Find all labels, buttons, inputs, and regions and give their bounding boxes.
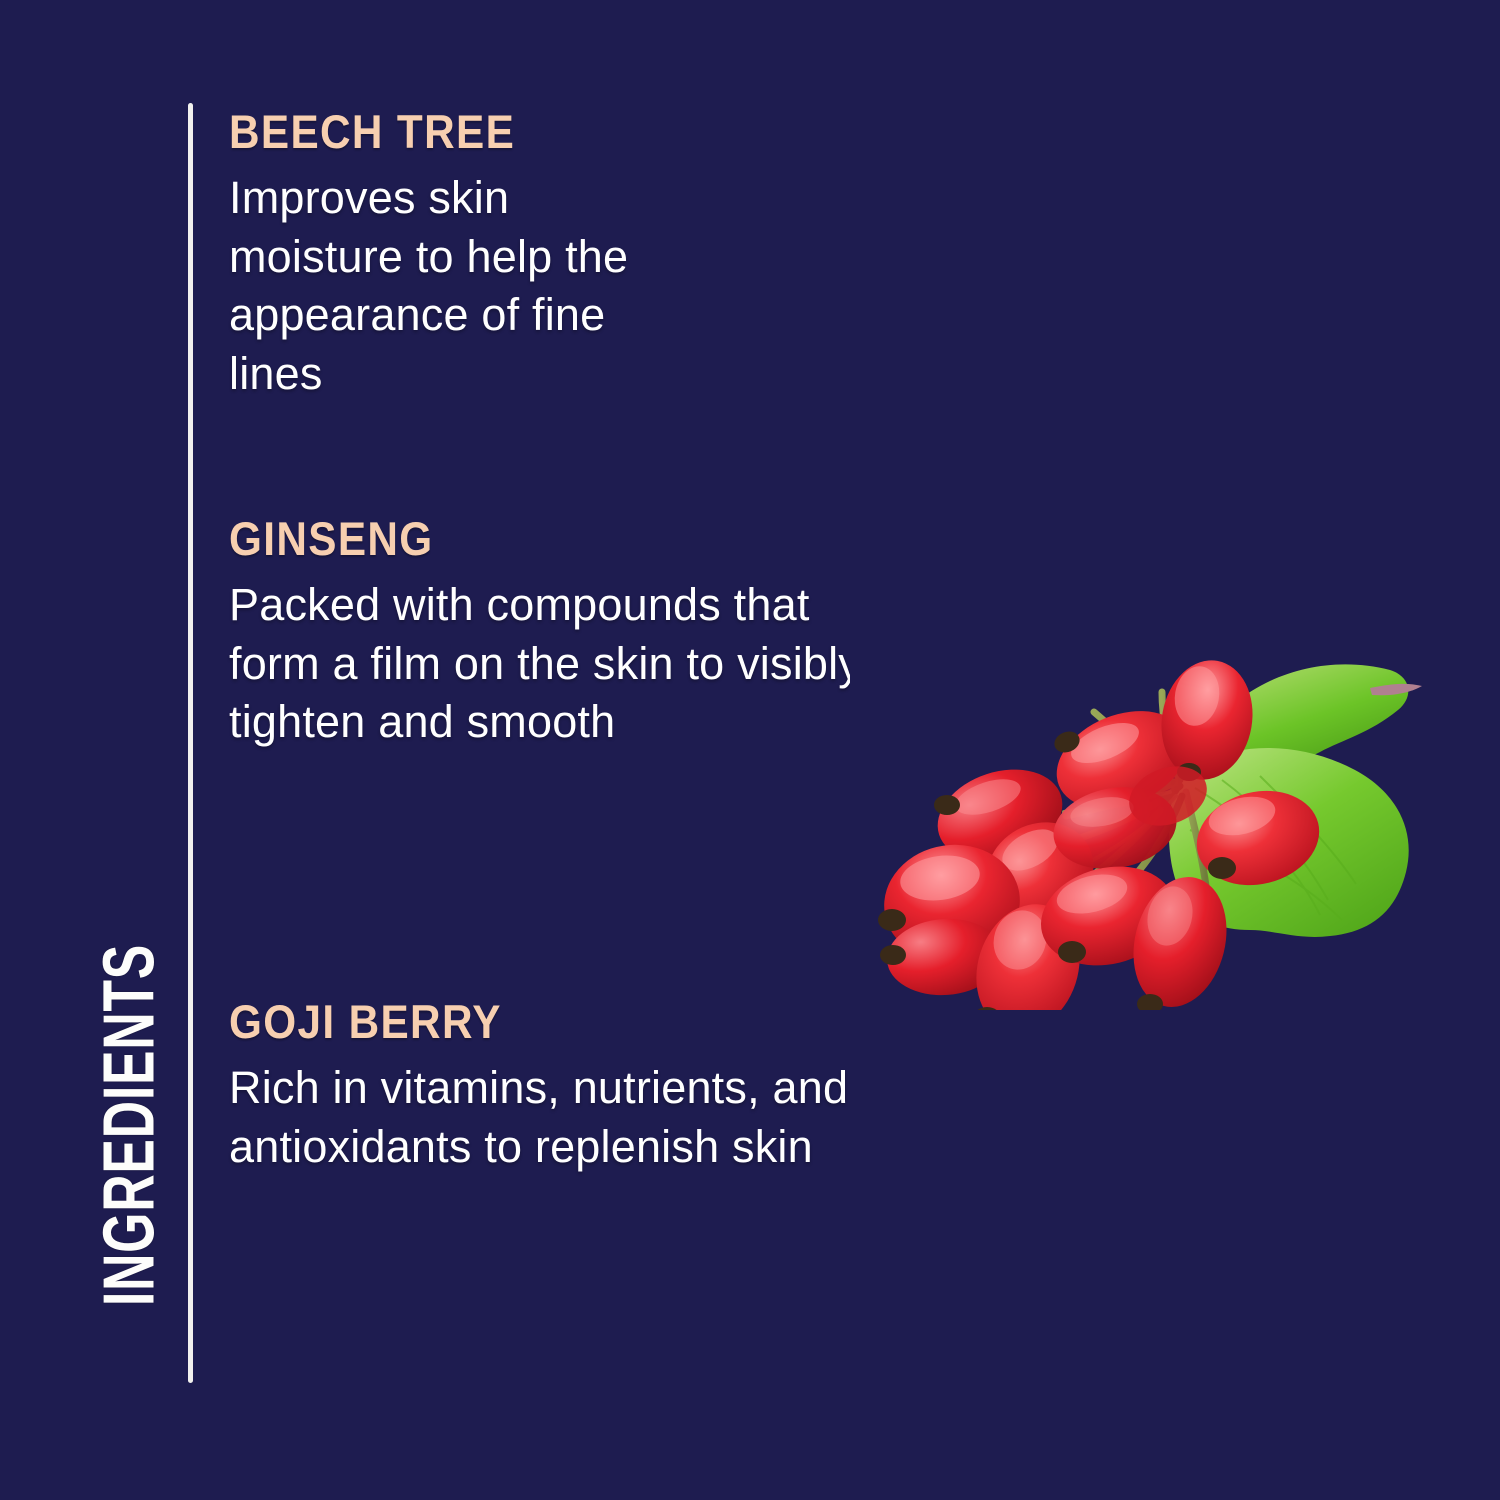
berry-calyx	[880, 945, 906, 965]
section-label-text: INGREDIENTS	[89, 944, 171, 1306]
ingredient-item-ginseng: GINSENG Packed with compounds that form …	[229, 515, 929, 752]
vertical-divider-rule	[188, 103, 193, 1383]
section-label-ingredients: INGREDIENTS	[0, 860, 260, 1390]
ingredient-item-goji-berry: GOJI BERRY Rich in vitamins, nutrients, …	[229, 998, 929, 1176]
ingredient-title-beech-tree: BEECH TREE	[229, 108, 515, 155]
goji-berry-illustration	[850, 600, 1440, 1010]
ingredients-panel: INGREDIENTS BEECH TREE Improves skin moi…	[0, 0, 1500, 1500]
ingredient-description-goji-berry: Rich in vitamins, nutrients, and antioxi…	[229, 1059, 889, 1176]
ingredient-description-ginseng: Packed with compounds that form a film o…	[229, 576, 869, 752]
ingredient-description-beech-tree: Improves skin moisture to help the appea…	[229, 169, 629, 403]
berry-calyx	[1058, 941, 1086, 963]
goji-berry-image	[850, 600, 1440, 1010]
ingredient-item-beech-tree: BEECH TREE Improves skin moisture to hel…	[229, 108, 929, 403]
ingredient-title-goji-berry: GOJI BERRY	[229, 998, 502, 1045]
berry-calyx	[934, 795, 960, 815]
berry-calyx	[1208, 857, 1236, 879]
ingredient-title-ginseng: GINSENG	[229, 515, 434, 562]
berry-calyx	[878, 909, 906, 931]
